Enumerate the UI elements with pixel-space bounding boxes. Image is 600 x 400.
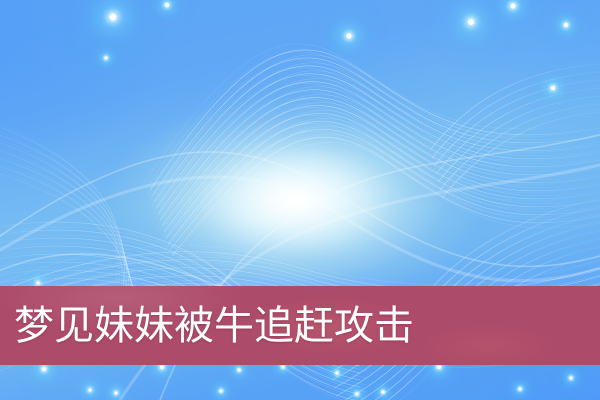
title-card: 梦见妹妹被牛追赶攻击 — [0, 0, 600, 400]
title-banner: 梦见妹妹被牛追赶攻击 — [0, 286, 600, 365]
banner-title-text: 梦见妹妹被牛追赶攻击 — [14, 306, 414, 346]
